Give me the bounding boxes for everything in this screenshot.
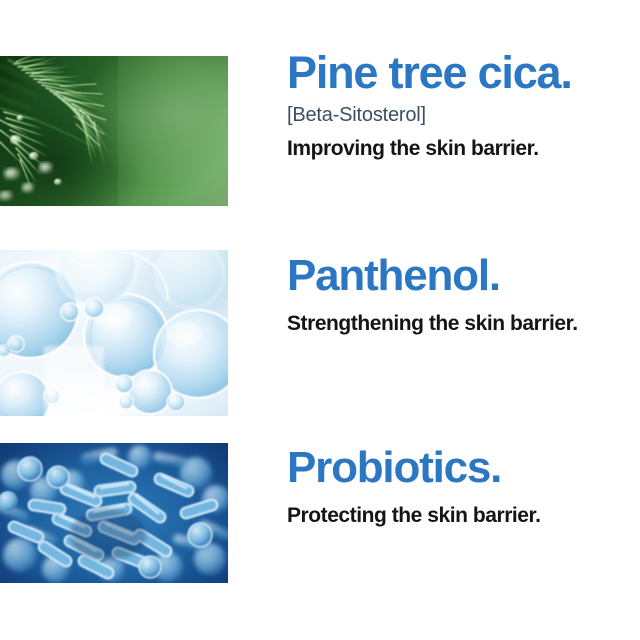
pine-tree-branch-photo [0, 56, 228, 206]
ingredient-section-panthenol: Panthenol. Strengthening the skin barrie… [0, 228, 640, 428]
probiotics-headline: Probiotics. [287, 446, 640, 490]
panthenol-headline: Panthenol. [287, 254, 640, 298]
ingredient-section-pine-tree-cica: Pine tree cica. [Beta-Sitosterol] Improv… [0, 0, 640, 228]
ingredient-section-probiotics: Probiotics. Protecting the skin barrier. [0, 428, 640, 640]
probiotics-benefit: Protecting the skin barrier. [287, 504, 640, 528]
bacteria-illustration [0, 443, 228, 583]
probiotics-text-block: Probiotics. Protecting the skin barrier. [287, 446, 640, 528]
bubbles-illustration [0, 250, 228, 416]
ingredient-benefits-panel: Pine tree cica. [Beta-Sitosterol] Improv… [0, 0, 640, 640]
panthenol-benefit: Strengthening the skin barrier. [287, 312, 640, 336]
pine-vignette-overlay [0, 56, 228, 206]
pine-tree-cica-headline: Pine tree cica. [287, 50, 640, 95]
water-bubbles-photo [0, 250, 228, 416]
pine-tree-cica-text-block: Pine tree cica. [Beta-Sitosterol] Improv… [287, 50, 640, 161]
pine-tree-cica-compound-name: [Beta-Sitosterol] [287, 104, 640, 126]
pine-tree-cica-benefit: Improving the skin barrier. [287, 137, 640, 161]
panthenol-text-block: Panthenol. Strengthening the skin barrie… [287, 254, 640, 336]
probiotic-bacteria-photo [0, 443, 228, 583]
